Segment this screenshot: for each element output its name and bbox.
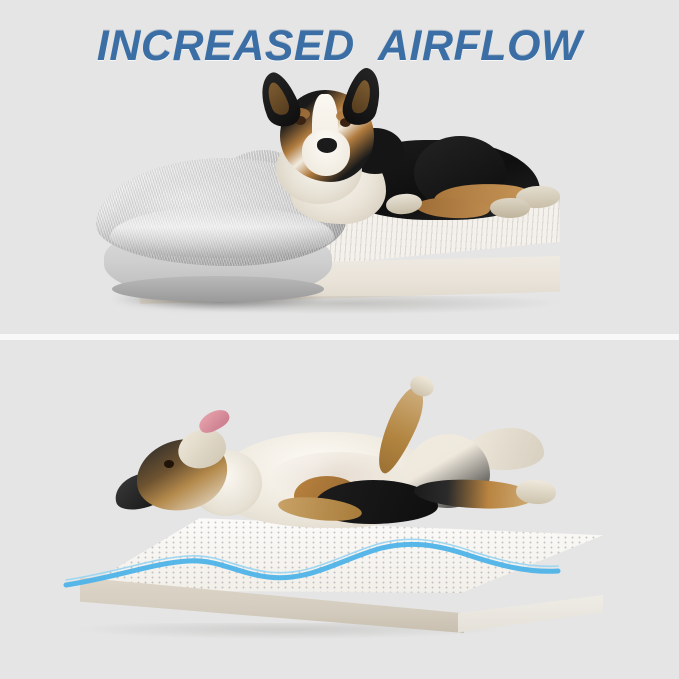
product-marketing-image: INCREASED AIRFLOW [0, 0, 679, 679]
bolster-base-lip [112, 276, 324, 302]
dog-eye [164, 460, 174, 468]
dog-lying-belly-up [118, 422, 548, 562]
panel-increased-airflow: INCREASED AIRFLOW [0, 0, 679, 334]
dog-muzzle [302, 130, 350, 176]
dog-paw-mid [490, 198, 530, 218]
panel-reduce-spinal-pressure: REDUCE SPINAL PRESSURE Egg crate foam ma… [0, 340, 679, 679]
scene-spinal-pressure [0, 340, 679, 679]
heading-increased-airflow: INCREASED AIRFLOW [0, 22, 679, 70]
dog-nose [317, 138, 337, 153]
border-collie-dog [228, 74, 558, 259]
